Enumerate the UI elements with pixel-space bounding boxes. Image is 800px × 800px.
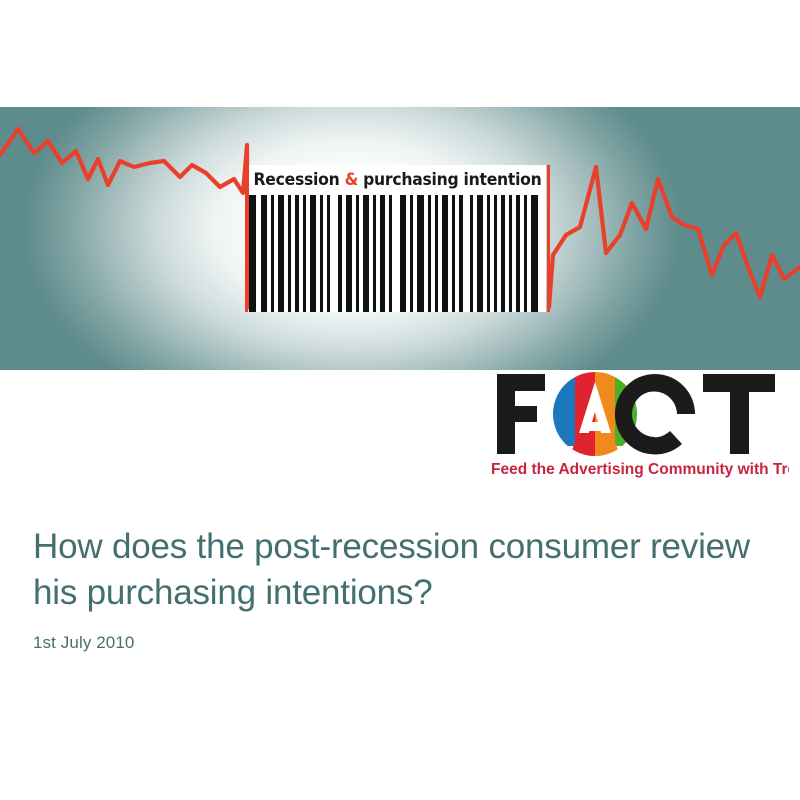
- barcode-label-suffix: purchasing intention: [358, 170, 542, 190]
- trend-line-right: [549, 167, 800, 307]
- barcode-bars: [249, 195, 546, 312]
- page-title: How does the post-recession consumer rev…: [33, 524, 753, 616]
- barcode-rail-left: [245, 165, 248, 312]
- recession-banner: Recession & purchasing intention: [0, 107, 800, 370]
- slide-canvas: Recession & purchasing intention: [0, 0, 800, 800]
- barcode-rail-right: [547, 165, 550, 312]
- logo-letter-f: [497, 374, 545, 454]
- barcode-label-ampersand: &: [345, 170, 358, 190]
- barcode-label: Recession & purchasing intention: [249, 165, 546, 195]
- logo-letter-c: [615, 374, 695, 454]
- trend-line-left: [0, 129, 248, 307]
- fact-logo: Feed the Advertising Community with Tren…: [489, 368, 789, 480]
- title-block: How does the post-recession consumer rev…: [33, 524, 753, 653]
- barcode-graphic: Recession & purchasing intention: [245, 165, 550, 312]
- logo-tagline: Feed the Advertising Community with Tren…: [491, 461, 789, 478]
- slide-date: 1st July 2010: [33, 633, 753, 653]
- barcode-label-prefix: Recession: [254, 170, 345, 190]
- logo-letter-t: [703, 374, 775, 454]
